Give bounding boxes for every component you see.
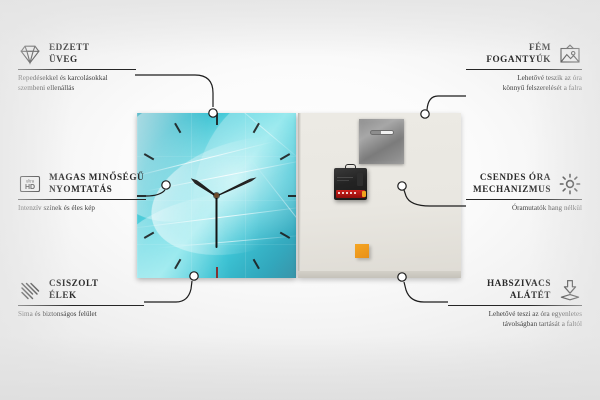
svg-text:ultra: ultra bbox=[26, 179, 35, 184]
gear-icon bbox=[558, 172, 582, 196]
callout-rule bbox=[466, 199, 582, 200]
battery bbox=[336, 190, 365, 198]
foam-pad-icon bbox=[558, 278, 582, 302]
callout-title: FÉM FOGANTYÚK bbox=[486, 42, 551, 66]
foam-pad bbox=[355, 244, 369, 258]
clock-tick bbox=[143, 153, 154, 160]
callout-description: Lehetővé teszik az óra könnyű felszerelé… bbox=[466, 73, 582, 93]
infographic-stage: EDZETT ÜVEG Repedésekkel és karcolásokka… bbox=[0, 0, 600, 400]
callout-description: Óramutatók hang nélkül bbox=[466, 203, 582, 213]
polished-edges-icon bbox=[18, 278, 42, 302]
mechanism-detail bbox=[337, 177, 353, 178]
clock-tick bbox=[279, 153, 290, 160]
clock-tick bbox=[215, 267, 217, 279]
callout-header: ultra HD MAGAS MINŐSÉGŰ NYOMTATÁS bbox=[18, 172, 146, 196]
clock-tick bbox=[143, 231, 154, 238]
mechanism-slot bbox=[357, 173, 363, 186]
battery-label bbox=[338, 192, 356, 194]
callout-header: CSISZOLT ÉLEK bbox=[18, 278, 144, 302]
clock-mechanism bbox=[334, 168, 367, 200]
callout-silent-mechanism[interactable]: CSENDES ÓRA MECHANIZMUS Óramutatók hang … bbox=[466, 172, 582, 213]
callout-title: HABSZIVACS ALÁTÉT bbox=[487, 278, 551, 302]
minute-hand bbox=[216, 175, 257, 197]
callout-rule bbox=[18, 305, 144, 306]
callout-metal-handles[interactable]: FÉM FOGANTYÚK Lehetővé teszik az óra kön… bbox=[466, 42, 582, 93]
clock-hub bbox=[214, 193, 219, 198]
callout-header: FÉM FOGANTYÚK bbox=[466, 42, 582, 66]
product-image bbox=[137, 113, 461, 278]
callout-rule bbox=[466, 69, 582, 70]
clock-tick bbox=[252, 122, 259, 133]
callout-description: Sima és biztonságos felület bbox=[18, 309, 144, 319]
svg-text:HD: HD bbox=[25, 184, 35, 191]
clock-tick bbox=[252, 258, 259, 269]
second-hand bbox=[216, 196, 218, 248]
callout-polished-edges[interactable]: CSISZOLT ÉLEK Sima és biztonságos felüle… bbox=[18, 278, 144, 319]
metal-hanger bbox=[359, 119, 404, 164]
clock-tick bbox=[216, 113, 218, 125]
callout-tempered-glass[interactable]: EDZETT ÜVEG Repedésekkel és karcolásokka… bbox=[18, 42, 136, 93]
callout-title: MAGAS MINŐSÉGŰ NYOMTATÁS bbox=[49, 172, 144, 196]
callout-title: CSENDES ÓRA MECHANIZMUS bbox=[473, 172, 551, 196]
callout-header: CSENDES ÓRA MECHANIZMUS bbox=[466, 172, 582, 196]
callout-header: HABSZIVACS ALÁTÉT bbox=[448, 278, 582, 302]
clock-tick bbox=[174, 122, 181, 133]
clock-back-panel bbox=[298, 113, 461, 278]
callout-description: Lehetővé teszi az óra egyenletes távolsá… bbox=[448, 309, 582, 329]
callout-description: Intenzív színek és éles kép bbox=[18, 203, 146, 213]
panel-bottom-edge bbox=[298, 271, 461, 278]
callout-high-quality-print[interactable]: ultra HD MAGAS MINŐSÉGŰ NYOMTATÁS Intenz… bbox=[18, 172, 146, 213]
callout-description: Repedésekkel és karcolásokkal szembeni e… bbox=[18, 73, 136, 93]
mechanism-detail bbox=[337, 180, 349, 181]
clock-tick bbox=[279, 231, 290, 238]
clock-tick bbox=[288, 195, 297, 197]
clock-front-panel bbox=[137, 113, 296, 278]
hanger-slot bbox=[370, 130, 394, 135]
callout-rule bbox=[448, 305, 582, 306]
callout-title: CSISZOLT ÉLEK bbox=[49, 278, 99, 302]
ultra-hd-icon: ultra HD bbox=[18, 172, 42, 196]
callout-header: EDZETT ÜVEG bbox=[18, 42, 136, 66]
clock-tick bbox=[174, 258, 181, 269]
wall-mount-icon bbox=[558, 42, 582, 66]
mechanism-hook bbox=[345, 164, 356, 169]
panel-edge bbox=[298, 113, 301, 278]
callout-rule bbox=[18, 69, 136, 70]
callout-rule bbox=[18, 199, 146, 200]
callout-foam-backing[interactable]: HABSZIVACS ALÁTÉT Lehetővé teszi az óra … bbox=[448, 278, 582, 329]
callout-title: EDZETT ÜVEG bbox=[49, 42, 90, 66]
diamond-icon bbox=[18, 42, 42, 66]
clock-dial bbox=[137, 113, 296, 278]
